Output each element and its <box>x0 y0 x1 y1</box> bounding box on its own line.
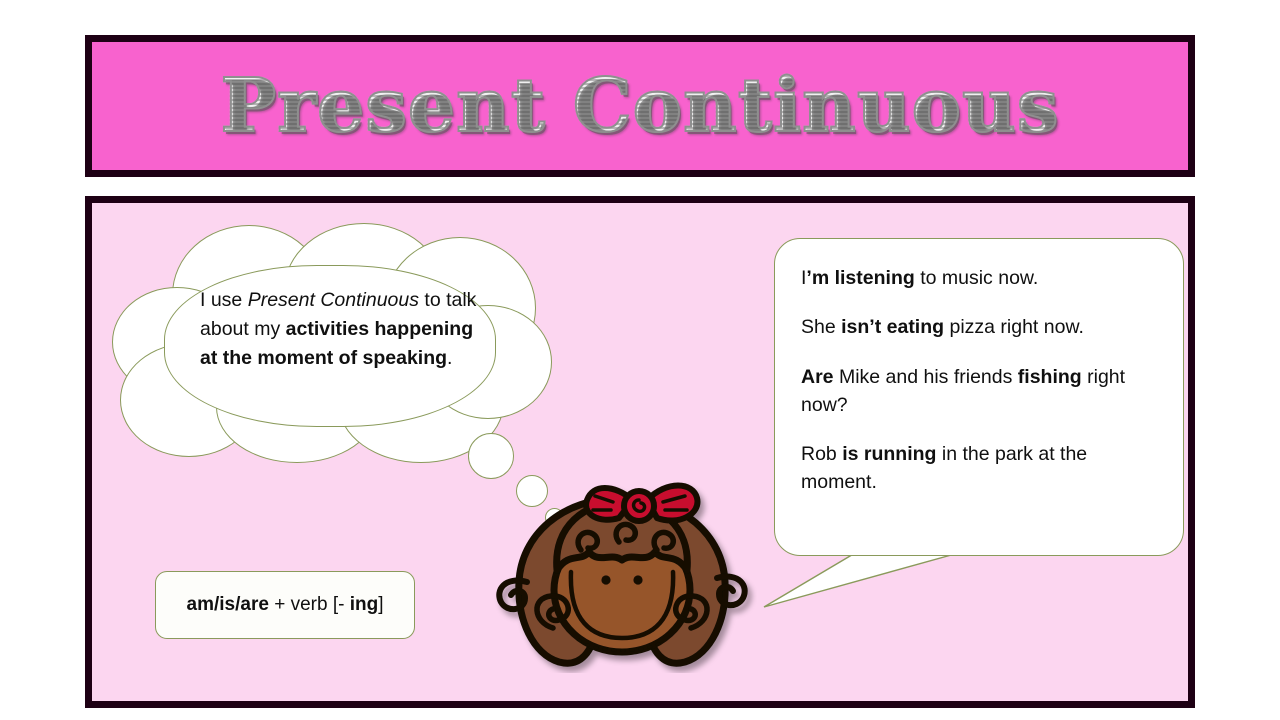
sentence-part: to music now. <box>915 267 1039 289</box>
sentence-part-bold: ’m listening <box>806 267 914 289</box>
sentence-part: pizza right now. <box>944 316 1084 338</box>
structure-formula-box: am/is/are + verb [- ing] <box>155 571 415 639</box>
eye-left <box>601 575 610 584</box>
definition-thought-cloud: I use Present Continuous to talk about m… <box>112 223 552 453</box>
title-banner: Present Continuous <box>85 35 1195 177</box>
formula-part-bold: ing <box>350 594 379 615</box>
cloud-text-part-italic: Present Continuous <box>248 289 419 311</box>
sentence-part-bold: Are <box>801 366 834 388</box>
cartoon-girl-illustration <box>487 478 757 673</box>
sentence-part-bold: fishing <box>1018 366 1082 388</box>
cloud-text-part: I use <box>200 289 248 311</box>
sentence-part: Rob <box>801 443 842 465</box>
formula-part: ] <box>378 594 383 615</box>
cloud-text: I use Present Continuous to talk about m… <box>200 286 478 373</box>
examples-speech-bubble: I’m listening to music now. She isn’t ea… <box>774 238 1184 556</box>
hair-bow <box>586 486 697 522</box>
sentence-part: Mike and his friends <box>834 366 1018 388</box>
example-sentence: She isn’t eating pizza right now. <box>801 313 1161 341</box>
slide-body-panel: I use Present Continuous to talk about m… <box>85 196 1195 708</box>
page-title: Present Continuous <box>92 69 1188 143</box>
formula-text: am/is/are + verb [- ing] <box>187 594 384 616</box>
formula-part: + verb [- <box>269 594 350 615</box>
examples-list: I’m listening to music now. She isn’t ea… <box>801 264 1161 497</box>
example-sentence: I’m listening to music now. <box>801 264 1161 292</box>
sentence-part-bold: isn’t eating <box>841 316 944 338</box>
sentence-part-bold: is running <box>842 443 936 465</box>
eye-right <box>633 575 642 584</box>
formula-part-bold: am/is/are <box>187 594 269 615</box>
cloud-text-part: . <box>447 347 452 369</box>
sentence-part: She <box>801 316 841 338</box>
example-sentence: Are Mike and his friends fishing right n… <box>801 363 1161 420</box>
thought-bubble-large <box>468 433 514 479</box>
example-sentence: Rob is running in the park at the moment… <box>801 440 1161 497</box>
